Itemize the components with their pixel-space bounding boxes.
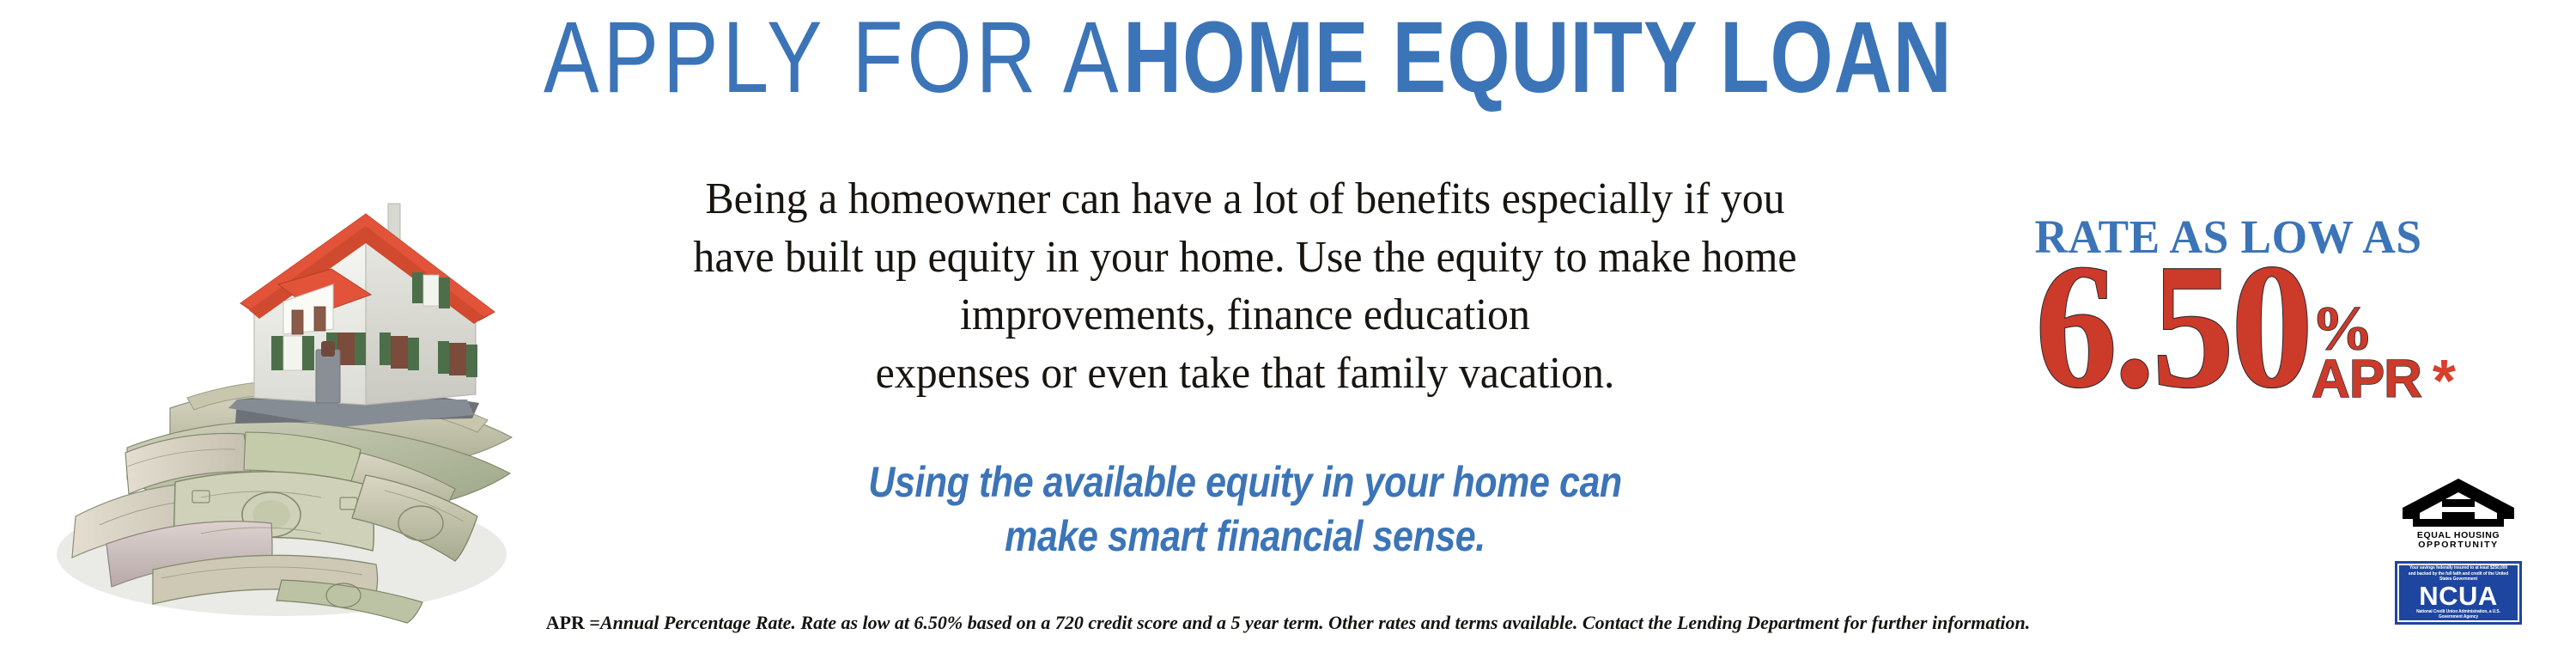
ncua-top-line-2: and backed by the full faith and credit … bbox=[2404, 571, 2513, 582]
body-line-1: Being a homeowner can have a lot of bene… bbox=[577, 170, 1912, 229]
rate-block: RATE AS LOW AS 6.50 % APR * bbox=[1915, 213, 2542, 409]
percent-symbol: % bbox=[2312, 302, 2421, 356]
equal-housing-house-icon: EQUAL HOUSING OPPORTUNITY bbox=[2397, 473, 2519, 549]
ncua-insurance-text: Your savings federally insured to at lea… bbox=[2404, 565, 2513, 581]
model-house bbox=[240, 204, 495, 405]
tagline-line-2: make smart financial sense. bbox=[647, 510, 1843, 564]
body-line-4: expenses or even take that family vacati… bbox=[577, 345, 1912, 403]
equal-housing-line-2: OPPORTUNITY bbox=[2418, 540, 2498, 549]
rate-value-row: 6.50 % APR * bbox=[1915, 267, 2542, 409]
tagline: Using the available equity in your home … bbox=[550, 455, 1941, 564]
disclaimer-prefix: APR = bbox=[546, 612, 600, 633]
body-copy: Being a homeowner can have a lot of bene… bbox=[550, 170, 1941, 402]
body-line-3: improvements, finance education bbox=[577, 286, 1912, 345]
body-line-2: have built up equity in your home. Use t… bbox=[577, 229, 1912, 287]
home-equity-loan-banner: APPLY FOR AHOME EQUITY LOAN bbox=[0, 0, 2576, 659]
tagline-line-1: Using the available equity in your home … bbox=[647, 455, 1843, 510]
page-title: APPLY FOR AHOME EQUITY LOAN bbox=[0, 7, 2576, 108]
ncua-wordmark: NCUA bbox=[2419, 583, 2498, 610]
asterisk-footnote-marker: * bbox=[2433, 351, 2456, 411]
rate-value: 6.50 bbox=[2035, 245, 2310, 409]
house-on-money-illustration bbox=[24, 150, 522, 632]
equal-housing-opportunity-logo: EQUAL HOUSING OPPORTUNITY bbox=[2397, 473, 2519, 549]
headline-light-text: APPLY FOR A bbox=[544, 7, 1122, 108]
house-on-money-graphic bbox=[24, 150, 522, 632]
disclaimer: APR =Annual Percentage Rate. Rate as low… bbox=[0, 612, 2576, 634]
rate-suffix: % APR * bbox=[2312, 302, 2421, 404]
apr-label: APR bbox=[2312, 356, 2421, 404]
headline-bold-text: HOME EQUITY LOAN bbox=[1123, 7, 1953, 108]
disclaimer-text: Annual Percentage Rate. Rate as low at 6… bbox=[600, 612, 2030, 633]
